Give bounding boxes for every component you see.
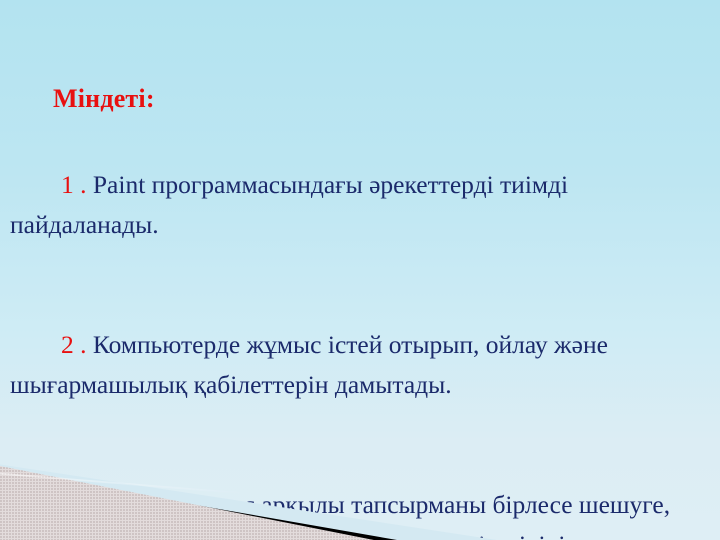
list-item-text: Компьютерде жұмыс істей отырып, ойлау жә… <box>10 330 614 399</box>
page-title: Міндеті: <box>53 85 155 112</box>
objectives-list: 1 . Paint программасындағы әрекеттерді т… <box>10 125 715 540</box>
list-item-text: Топтық жұмыс арқылы тапсырманы бірлесе ш… <box>10 490 720 540</box>
list-item: 1 . Paint программасындағы әрекеттерді т… <box>10 125 715 285</box>
slide-canvas: Міндеті: 1 . Paint программасындағы әрек… <box>0 0 720 540</box>
list-item-number: 1 . <box>61 170 87 199</box>
list-item: 2 . Компьютерде жұмыс істей отырып, ойла… <box>10 285 715 445</box>
list-item-number: 2 . <box>61 330 87 359</box>
list-item-number: 3 . <box>61 490 87 519</box>
list-item-text: Paint программасындағы әрекеттерді тиімд… <box>10 170 574 239</box>
list-item: 3 . Топтық жұмыс арқылы тапсырманы бірле… <box>10 445 715 540</box>
